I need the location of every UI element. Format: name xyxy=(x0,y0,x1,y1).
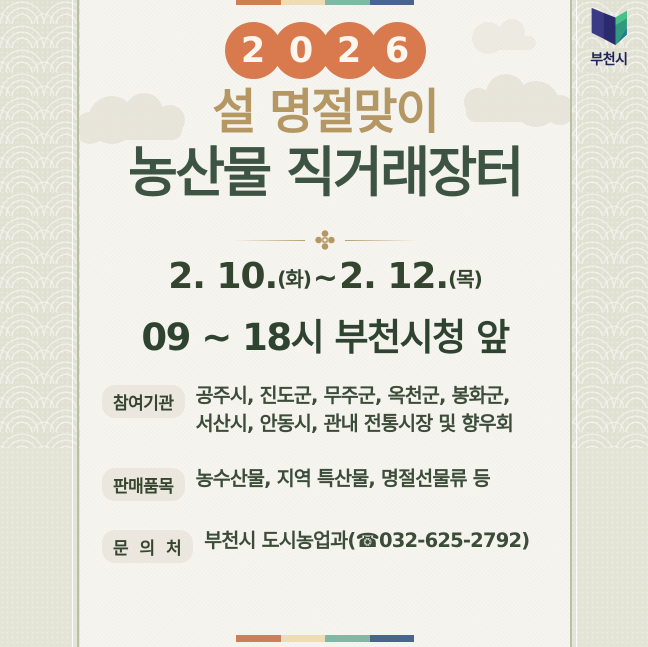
date-end-weekday: (목) xyxy=(448,267,482,291)
dot-texture-right xyxy=(570,0,648,647)
dot-texture-left xyxy=(0,0,80,647)
accent-seg-4 xyxy=(370,0,415,5)
info-label-participants: 참여기관 xyxy=(102,385,185,418)
accent-bar-top xyxy=(236,0,414,5)
divider-line-left xyxy=(233,240,305,241)
accent-seg-3 xyxy=(325,635,370,642)
poster-canvas: 2 0 2 6 설 명절맞이 농산물 직거래장터 2. 10.(화)~2. 12… xyxy=(0,0,648,647)
info-value-line: 서산시, 안동시, 관내 전통시장 및 향우회 xyxy=(196,410,513,438)
date-start: 2. 10. xyxy=(168,256,277,297)
event-date-line: 2. 10.(화)~2. 12.(목) xyxy=(80,258,570,296)
event-time-and-place: 09 ~ 18시 부천시청 앞 xyxy=(80,307,570,361)
accent-seg-4 xyxy=(370,635,415,642)
title-line-1: 설 명절맞이 xyxy=(80,88,570,136)
flower-icon xyxy=(314,229,336,251)
info-value-line: 공주시, 진도군, 무주군, 옥천군, 봉화군, xyxy=(196,382,513,410)
accent-seg-2 xyxy=(281,0,326,5)
info-section: 참여기관 공주시, 진도군, 무주군, 옥천군, 봉화군, 서산시, 안동시, … xyxy=(102,382,556,589)
year-digit-circle: 6 xyxy=(369,22,426,79)
info-value-products: 농수산물, 지역 특산물, 명절선물류 등 xyxy=(196,465,490,493)
year-badge: 2 0 2 6 xyxy=(80,22,570,79)
info-value-line: 부천시 도시농업과(☎032-625-2792) xyxy=(204,527,529,555)
date-tilde: ~ xyxy=(311,261,339,296)
accent-seg-1 xyxy=(236,635,281,642)
right-margin-panel xyxy=(570,0,648,647)
left-margin-panel xyxy=(0,0,80,647)
info-label-products: 판매품목 xyxy=(102,468,185,501)
info-row-participants: 참여기관 공주시, 진도군, 무주군, 옥천군, 봉화군, 서산시, 안동시, … xyxy=(102,382,556,439)
bucheon-logo-mark-icon xyxy=(584,6,634,48)
info-value-line: 농수산물, 지역 특산물, 명절선물류 등 xyxy=(196,465,490,493)
divider-line-right xyxy=(345,240,417,241)
title-line-2: 농산물 직거래장터 xyxy=(80,146,570,200)
bucheon-logo-text: 부천시 xyxy=(576,49,642,69)
divider-rule-left-inner xyxy=(77,0,79,647)
info-value-participants: 공주시, 진도군, 무주군, 옥천군, 봉화군, 서산시, 안동시, 관내 전통… xyxy=(196,382,513,439)
divider-rule-right-inner xyxy=(570,0,572,647)
divider-rule-right-outer xyxy=(576,0,577,647)
info-label-contact: 문 의 처 xyxy=(102,530,193,563)
info-row-products: 판매품목 농수산물, 지역 특산물, 명절선물류 등 xyxy=(102,465,556,501)
date-start-weekday: (화) xyxy=(277,267,311,291)
date-end: 2. 12. xyxy=(339,256,448,297)
poster-content-card: 2 0 2 6 설 명절맞이 농산물 직거래장터 2. 10.(화)~2. 12… xyxy=(80,0,570,647)
accent-seg-1 xyxy=(236,0,281,5)
info-row-contact: 문 의 처 부천시 도시농업과(☎032-625-2792) xyxy=(102,527,556,563)
divider-rule-left-outer xyxy=(72,0,73,647)
info-value-contact: 부천시 도시농업과(☎032-625-2792) xyxy=(204,527,529,555)
accent-seg-3 xyxy=(325,0,370,5)
accent-seg-2 xyxy=(281,635,326,642)
flower-divider-ornament xyxy=(80,228,570,252)
accent-bar-bottom xyxy=(236,635,414,642)
bucheon-city-logo: 부천시 xyxy=(576,6,642,69)
